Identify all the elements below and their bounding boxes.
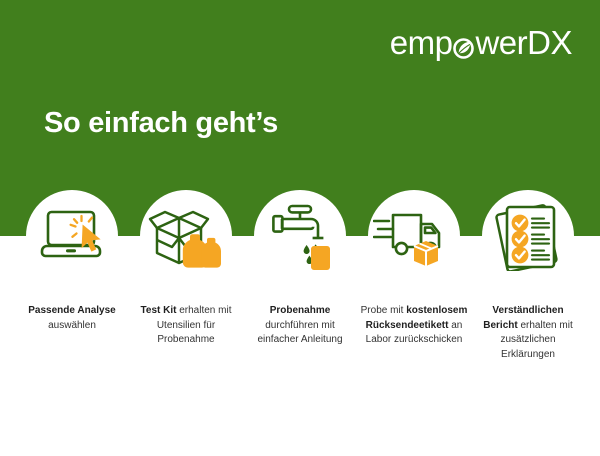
laptop-cursor-icon (36, 204, 108, 268)
step-1-circle (26, 190, 118, 282)
step-4-caption: Probe mit kostenlosem Rücksendeetikett a… (360, 304, 468, 348)
step-3-caption: Probenahme durchführen mit einfacher Anl… (246, 304, 354, 348)
step-1-caption: Passende Analyse auswählen (18, 304, 126, 333)
step-5-circle (482, 190, 574, 282)
step-item-2: Test Kit erhalten mit Utensilien für Pro… (132, 190, 240, 348)
step-4-caption-pre: Probe mit (361, 305, 407, 316)
step-3-circle (254, 190, 346, 282)
step-1-caption-rest: auswählen (48, 320, 96, 331)
step-item-4: Probe mit kostenlosem Rücksendeetikett a… (360, 190, 468, 348)
step-5-caption: Verständlichen Bericht erhalten mit zusä… (474, 304, 582, 362)
open-box-bottles-icon (148, 202, 224, 270)
delivery-truck-package-icon (373, 203, 455, 269)
logo-text-prefix: emp (390, 24, 453, 61)
logo-text-suffix: DX (527, 24, 572, 61)
faucet-drops-bottle-icon (265, 202, 335, 270)
empowerdx-logo: empwerDX (390, 26, 572, 59)
logo-leaf-o-icon (452, 26, 475, 59)
report-checklist-icon (491, 201, 565, 271)
step-3-caption-rest: durchführen mit einfacher Anleitung (257, 320, 342, 346)
step-1-caption-bold: Passende Analyse (28, 305, 115, 316)
step-item-1: Passende Analyse auswählen (18, 190, 126, 333)
step-3-caption-bold: Probenahme (270, 305, 331, 316)
logo-text-mid: wer (475, 24, 527, 61)
page-title: So einfach geht’s (44, 108, 278, 140)
slide-root: empwerDX So einfach geht’s (0, 0, 600, 456)
step-2-caption-bold: Test Kit (141, 305, 177, 316)
step-4-circle (368, 190, 460, 282)
step-2-circle (140, 190, 232, 282)
step-2-caption: Test Kit erhalten mit Utensilien für Pro… (132, 304, 240, 348)
